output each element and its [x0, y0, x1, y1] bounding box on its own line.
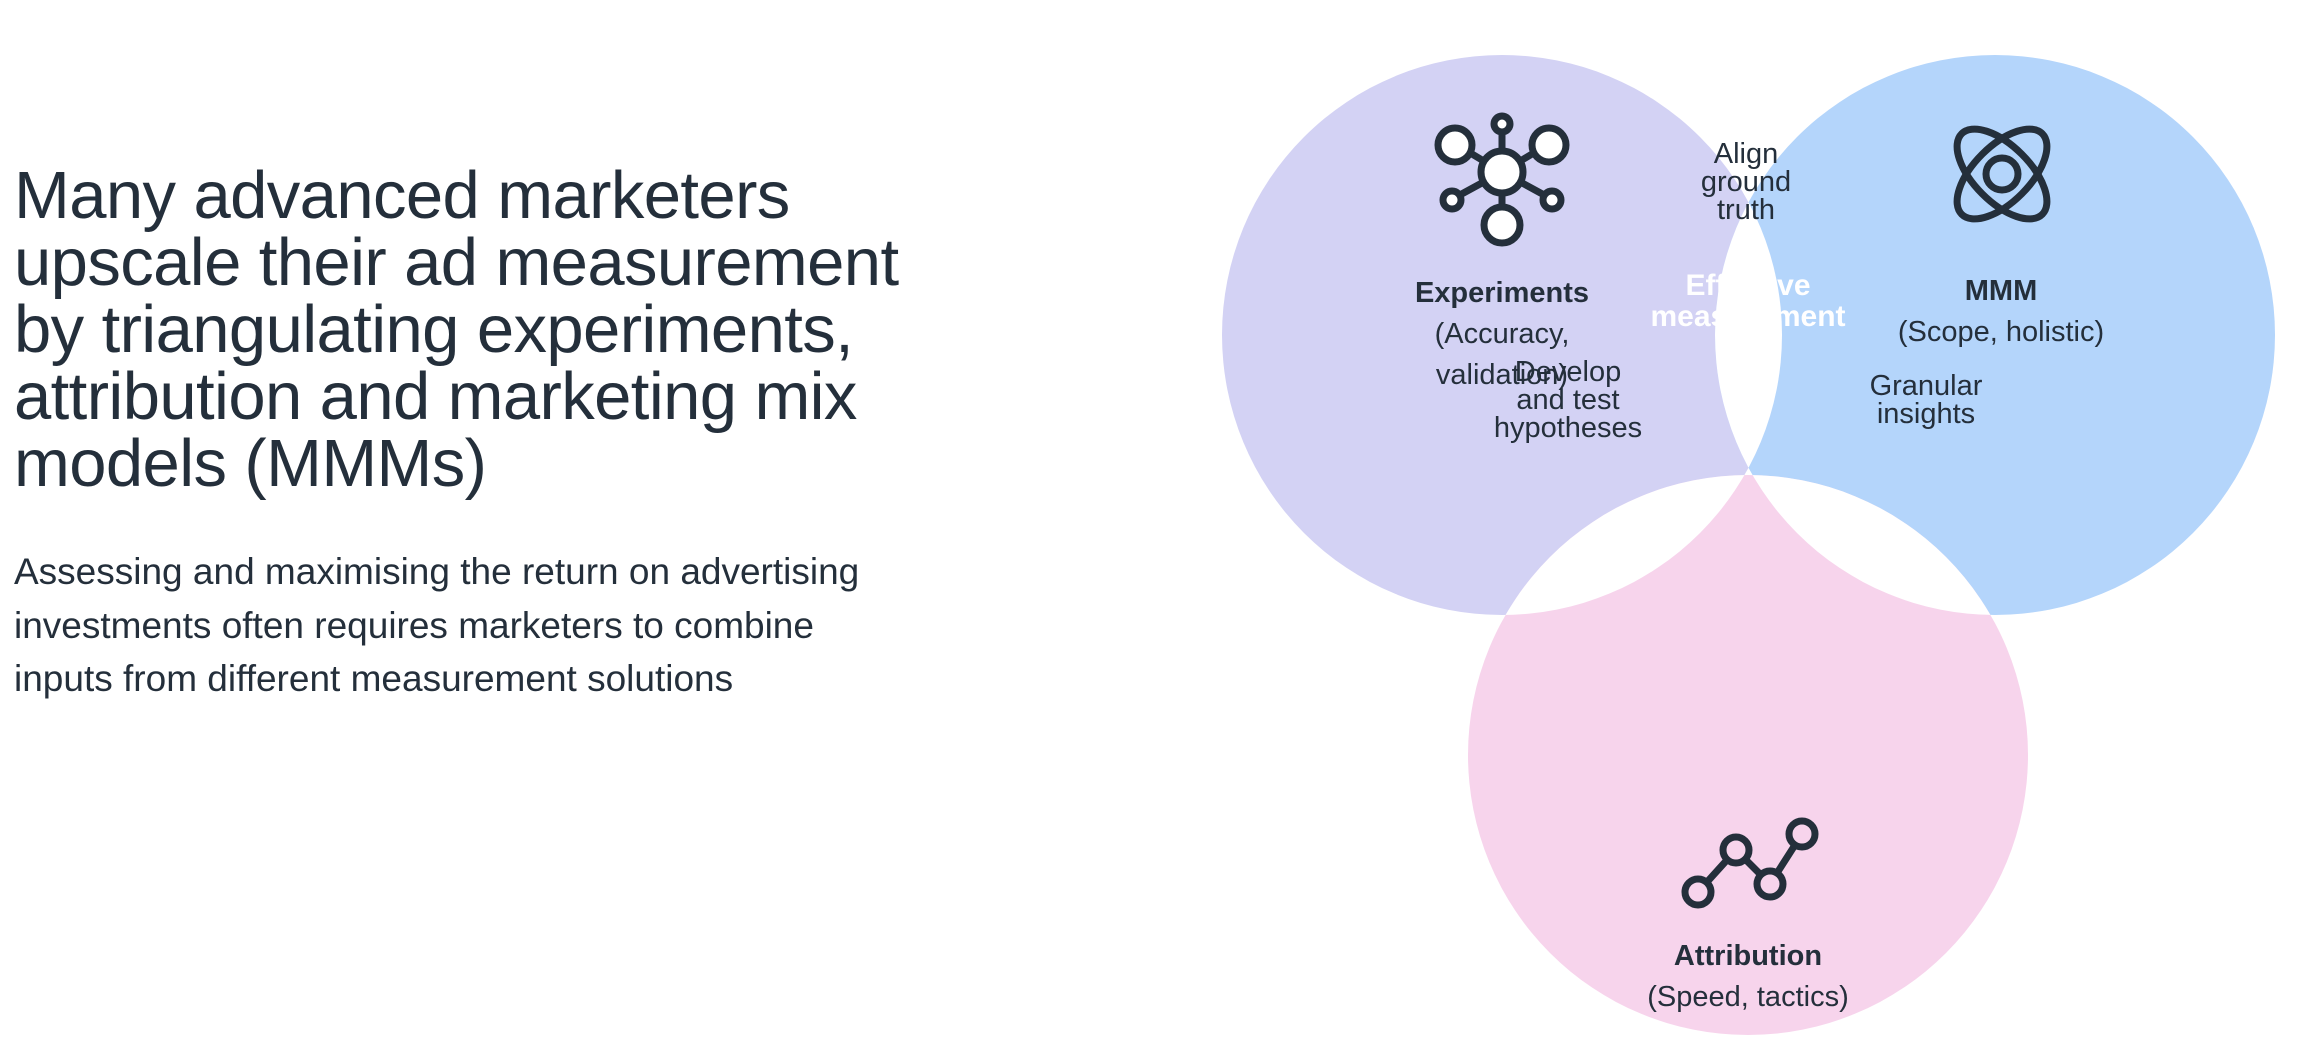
headline-line: Many advanced marketers — [14, 162, 1154, 229]
set-title-experiments: Experiments — [1415, 277, 1589, 309]
center-line: Effective — [1685, 269, 1810, 302]
headline-line: attribution and marketing mix — [14, 363, 1154, 430]
venn-label-granular-insights: Granular insights — [1870, 370, 1983, 430]
center-line: measurement — [1650, 300, 1845, 333]
copy-block: Many advanced marketers upscale their ad… — [14, 162, 1174, 706]
intersection-line: truth — [1717, 194, 1775, 226]
venn-diagram: Experiments (Accuracy, validation) MMM (… — [1180, 0, 2304, 1058]
headline-line: by triangulating experiments, — [14, 296, 1154, 363]
set-subtitle-line: (Scope, holistic) — [1898, 316, 2104, 348]
headline-line: upscale their ad measurement — [14, 229, 1154, 296]
set-title-attribution: Attribution — [1674, 940, 1822, 972]
subcopy-line: Assessing and maximising the return on a… — [14, 545, 1064, 599]
intersection-line: hypotheses — [1494, 412, 1642, 444]
slide-canvas: Many advanced marketers upscale their ad… — [0, 0, 2304, 1058]
subcopy-line: investments often requires marketers to … — [14, 599, 1064, 653]
set-subtitle-line: (Speed, tactics) — [1647, 981, 1848, 1013]
page-title: Many advanced marketers upscale their ad… — [14, 162, 1154, 497]
set-subtitle-line: (Accuracy, — [1435, 318, 1570, 350]
set-title-mmm: MMM — [1965, 275, 2037, 307]
subcopy-line: inputs from different measurement soluti… — [14, 652, 1064, 706]
page-subtitle: Assessing and maximising the return on a… — [14, 545, 1064, 706]
intersection-line: insights — [1877, 398, 1975, 430]
headline-line: models (MMMs) — [14, 430, 1154, 497]
